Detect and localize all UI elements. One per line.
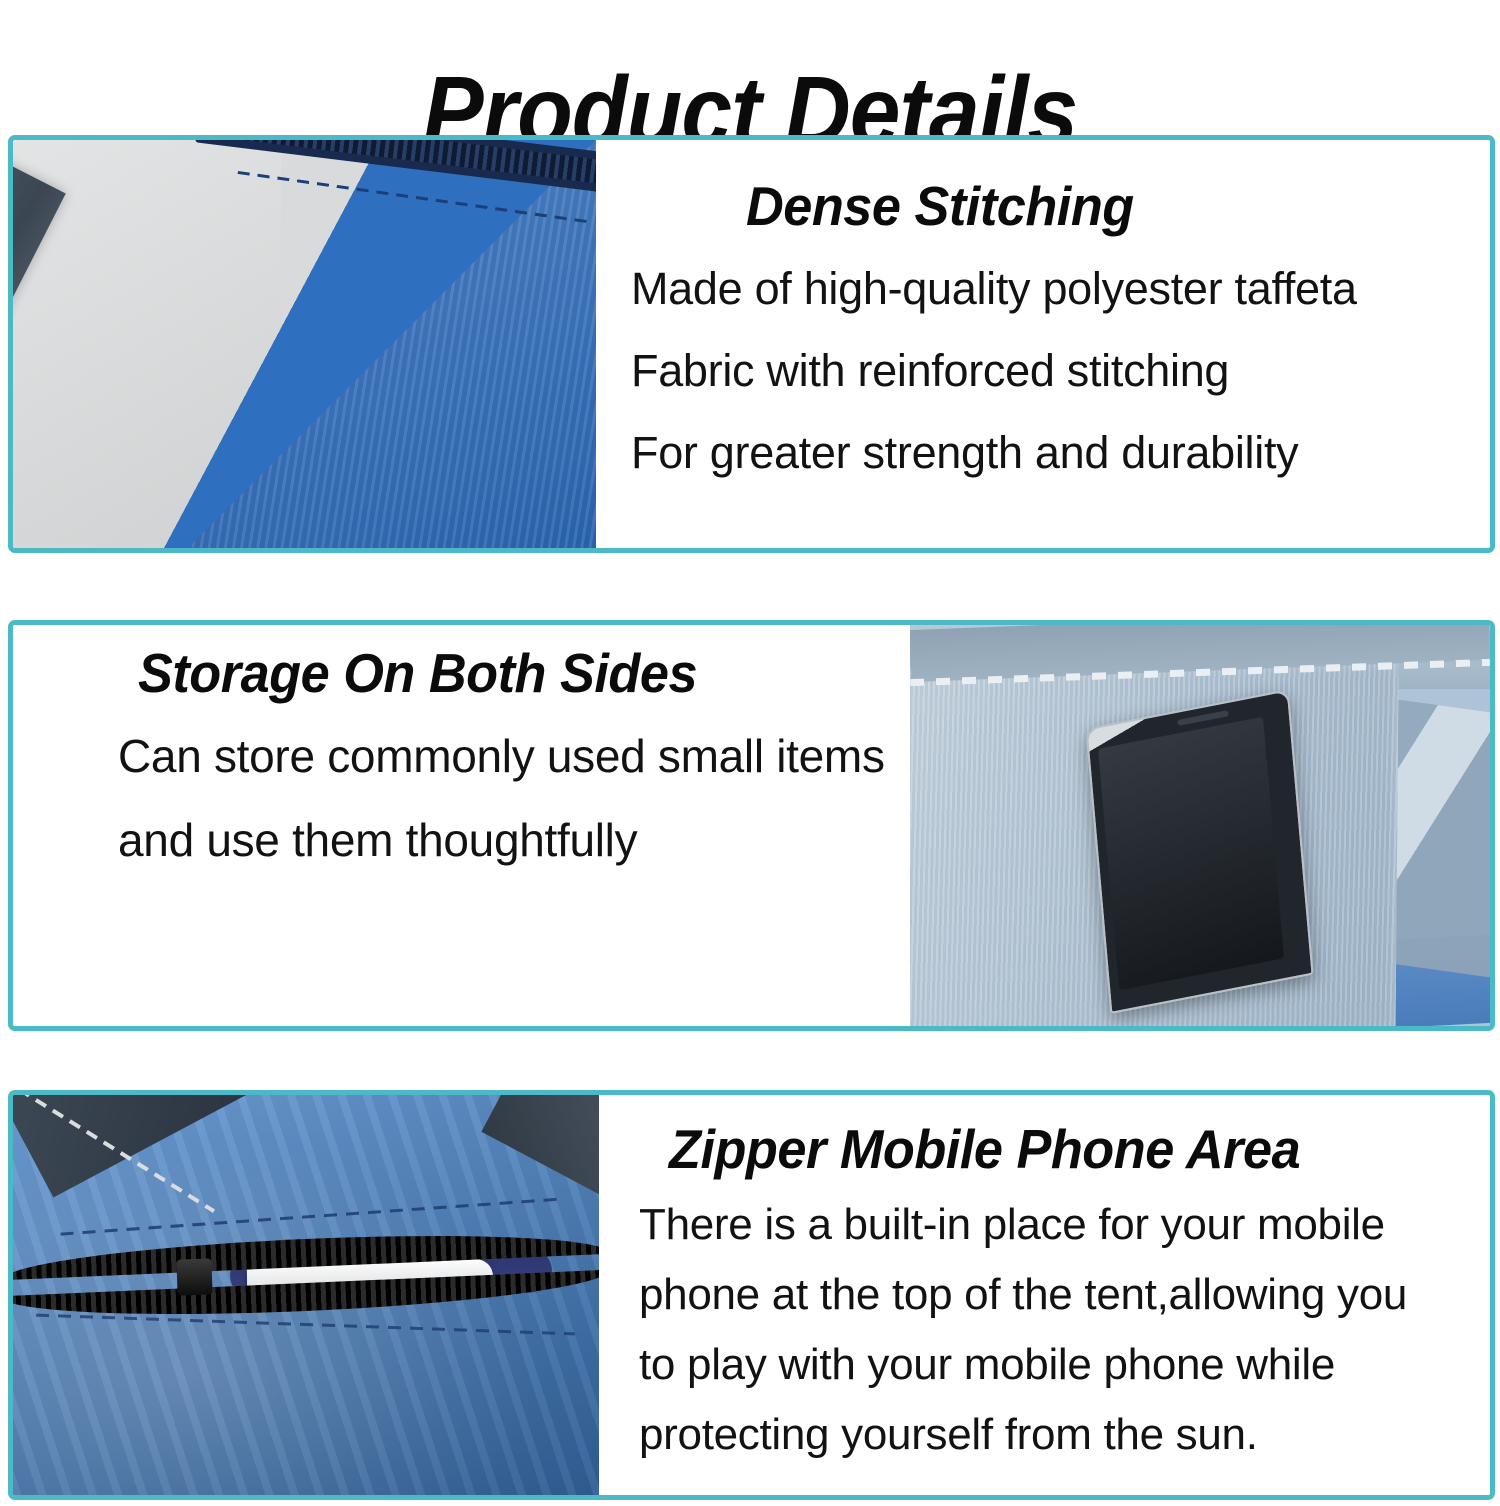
panel-3-heading: Zipper Mobile Phone Area <box>669 1121 1430 1179</box>
panel-2-line-2: and use them thoughtfully <box>118 817 890 863</box>
panel-1-line-3: For greater strength and durability <box>631 430 1470 475</box>
zipper-phone-pocket-photo <box>13 1095 599 1495</box>
panel-1-line-1: Made of high-quality polyester taffeta <box>631 266 1470 311</box>
panel-3-line-3: to play with your mobile phone while <box>639 1343 1470 1387</box>
panel-3-text-block: Zipper Mobile Phone Area There is a buil… <box>599 1095 1490 1495</box>
panel-1-text-block: Dense Stitching Made of high-quality pol… <box>596 140 1490 548</box>
panel-2-heading: Storage On Both Sides <box>138 645 852 703</box>
feature-panel-dense-stitching: Dense Stitching Made of high-quality pol… <box>8 135 1495 553</box>
panel-2-line-1: Can store commonly used small items <box>118 733 890 779</box>
panel-2-text-block: Storage On Both Sides Can store commonly… <box>13 625 910 1026</box>
feature-panel-zipper-mobile-phone-area: Zipper Mobile Phone Area There is a buil… <box>8 1090 1495 1500</box>
tent-seam-stitching-photo <box>13 140 596 548</box>
panel-3-line-4: protecting yourself from the sun. <box>639 1413 1470 1457</box>
feature-panel-storage-on-both-sides: Storage On Both Sides Can store commonly… <box>8 620 1495 1031</box>
panel-3-line-1: There is a built-in place for your mobil… <box>639 1203 1470 1247</box>
product-details-infographic: Product Details Dense Stitching Made of … <box>0 0 1500 1506</box>
panel-1-heading: Dense Stitching <box>746 178 1434 236</box>
side-storage-pocket-photo <box>910 625 1490 1026</box>
panel-1-line-2: Fabric with reinforced stitching <box>631 348 1470 393</box>
panel-3-line-2: phone at the top of the tent,allowing yo… <box>639 1273 1470 1317</box>
